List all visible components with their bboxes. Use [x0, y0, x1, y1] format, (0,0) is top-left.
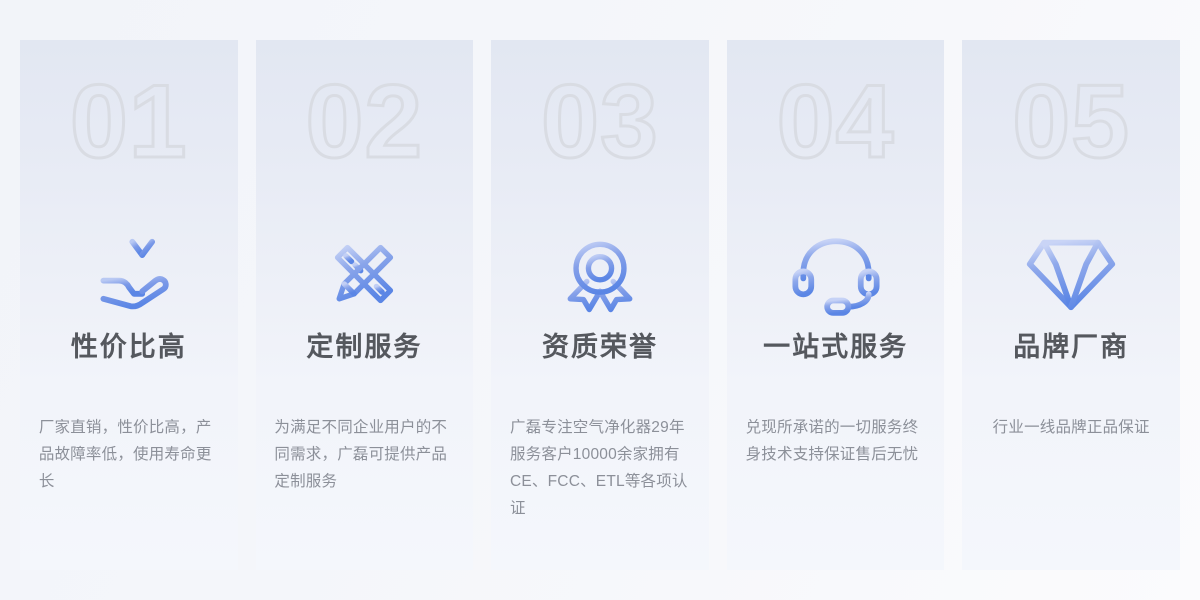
card-title-4: 一站式服务: [763, 330, 908, 364]
feature-card-4[interactable]: 04: [727, 40, 945, 570]
award-medal-icon: [557, 236, 643, 312]
card-title-2: 定制服务: [306, 330, 422, 364]
card-desc-5: 行业一线品牌正品保证: [981, 414, 1161, 441]
card-number-02: 02: [306, 66, 424, 178]
card-desc-2: 为满足不同企业用户的不同需求，广磊可提供产品定制服务: [274, 414, 454, 495]
feature-card-2[interactable]: 02: [256, 40, 474, 570]
card-title-3: 资质荣誉: [542, 330, 658, 364]
hand-holding-yuan-icon: [86, 236, 172, 312]
card-number-05: 05: [1012, 66, 1130, 178]
card-desc-1: 厂家直销，性价比高，产品故障率低，使用寿命更长: [39, 414, 219, 495]
card-desc-4: 兑现所承诺的一切服务终身技术支持保证售后无忧: [746, 414, 926, 468]
diamond-icon: [1028, 236, 1114, 312]
feature-card-3[interactable]: 03: [491, 40, 709, 570]
card-number-03: 03: [541, 66, 659, 178]
pencil-ruler-icon: [321, 236, 407, 312]
headset-icon: [793, 236, 879, 312]
card-desc-3: 广磊专注空气净化器29年服务客户10000余家拥有CE、FCC、ETL等各项认证: [510, 414, 690, 522]
card-number-01: 01: [70, 66, 188, 178]
card-title-5: 品牌厂商: [1013, 330, 1129, 364]
feature-card-5[interactable]: 05 品牌厂商 行业一线品牌正品保证: [962, 40, 1180, 570]
feature-cards-board: 01: [0, 0, 1200, 600]
card-title-1: 性价比高: [71, 330, 187, 364]
feature-card-1[interactable]: 01: [20, 40, 238, 570]
card-number-04: 04: [777, 66, 895, 178]
